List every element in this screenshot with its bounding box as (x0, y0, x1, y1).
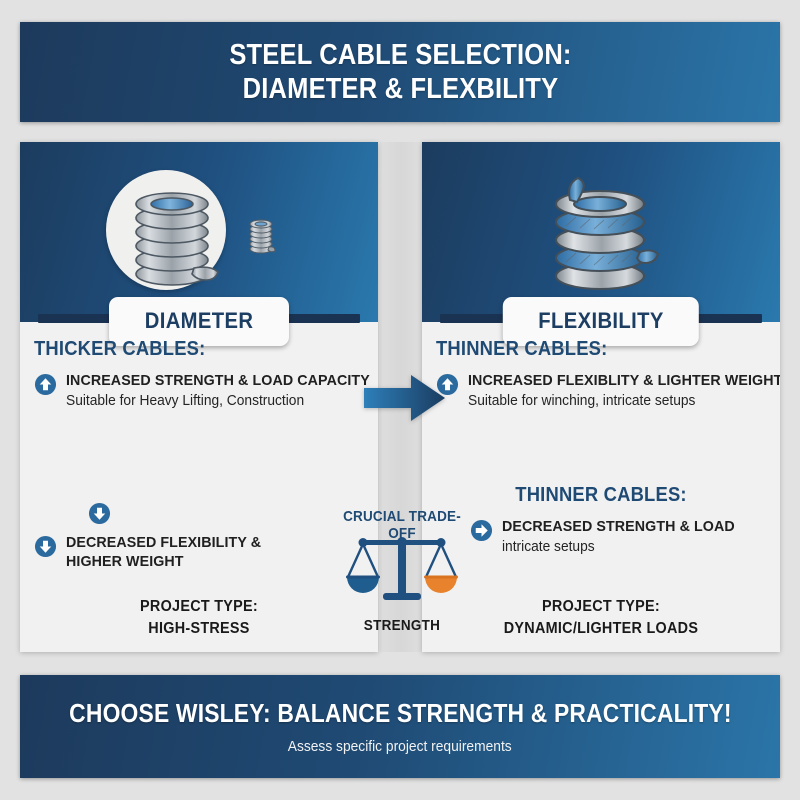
balance-scale-icon (345, 533, 459, 613)
strength-label: STRENGTH (334, 617, 471, 634)
arrow-right-icon (364, 373, 446, 423)
flexibility-bottom-sub: intricate setups (502, 538, 753, 557)
thin-wire-rope-coil-icon (544, 170, 660, 298)
flexibility-project-label: PROJECT TYPE: (440, 596, 762, 618)
panel-flexibility-icon-area (422, 164, 780, 304)
flexibility-top-heading: THINNER CABLES: (436, 338, 740, 361)
flexibility-project-value: DYNAMIC/LIGHTER LOADS (440, 618, 762, 640)
small-cable-coil-icon (248, 216, 276, 256)
header-banner: STEEL CABLE SELECTION: DIAMETER & FLEXBI… (20, 22, 780, 122)
header-title-line2: DIAMETER & FLEXBILITY (229, 72, 571, 106)
flexibility-bottom-body: THINNER CABLES: DECREASED STRENGTH & LOA… (422, 484, 780, 557)
header-title: STEEL CABLE SELECTION: DIAMETER & FLEXBI… (229, 38, 571, 106)
diameter-project-label: PROJECT TYPE: (38, 596, 360, 618)
panel-diameter: DIAMETER THICKER CABLES: INCREASED STREN… (20, 142, 378, 652)
flexibility-project-block: PROJECT TYPE: DYNAMIC/LIGHTER LOADS (422, 596, 780, 639)
panel-flexibility-body: THINNER CABLES: INCREASED FLEXIBLITY & L… (422, 338, 780, 411)
footer-banner: CHOOSE WISLEY: BALANCE STRENGTH & PRACTI… (20, 675, 780, 778)
diameter-top-heading: THICKER CABLES: (34, 338, 338, 361)
diameter-project-value: HIGH-STRESS (38, 618, 360, 640)
thick-cable-coil-icon (128, 180, 224, 292)
diameter-top-bullet: INCREASED STRENGTH & LOAD CAPACITY Suita… (34, 372, 364, 411)
diameter-bottom-sub: HIGHER WEIGHT (66, 553, 349, 572)
header-title-line1: STEEL CABLE SELECTION: (229, 38, 571, 72)
footer-subtitle: Assess specific project requirements (288, 738, 512, 755)
diameter-bottom-bullet: DECREASED FLEXIBILITY & HIGHER WEIGHT (34, 534, 364, 572)
panel-diameter-icon-area (20, 164, 378, 304)
arrow-right-circle-icon (470, 519, 493, 542)
diameter-top-main: INCREASED STRENGTH & LOAD CAPACITY (66, 372, 349, 391)
diameter-bottom-main: DECREASED FLEXIBILITY & (66, 534, 349, 553)
flexibility-top-main: INCREASED FLEXIBLITY & LIGHTER WEIGHT (468, 372, 751, 391)
flexibility-bottom-main: DECREASED STRENGTH & LOAD (502, 518, 753, 537)
diameter-project-block: PROJECT TYPE: HIGH-STRESS (20, 596, 378, 639)
arrow-down-circle-icon-floating (88, 502, 111, 525)
panel-flexibility: FLEXIBILITY THINNER CABLES: INCREASED FL… (422, 142, 780, 652)
arrow-up-circle-icon (34, 373, 57, 396)
flexibility-bottom-heading: THINNER CABLES: (449, 484, 753, 507)
infographic-canvas: STEEL CABLE SELECTION: DIAMETER & FLEXBI… (0, 0, 800, 800)
arrow-down-circle-icon (34, 535, 57, 558)
diameter-bottom-body: DECREASED FLEXIBILITY & HIGHER WEIGHT (20, 534, 378, 572)
panel-diameter-body: THICKER CABLES: INCREASED STRENGTH & LOA… (20, 338, 378, 411)
panel-diameter-pill-label: DIAMETER (145, 308, 254, 334)
flexibility-top-sub: Suitable for winching, intricate setups (468, 392, 751, 411)
diameter-top-sub: Suitable for Heavy Lifting, Construction (66, 392, 349, 411)
panel-flexibility-pill-label: FLEXIBILITY (538, 308, 663, 334)
flexibility-top-bullet: INCREASED FLEXIBLITY & LIGHTER WEIGHT Su… (436, 372, 766, 411)
flexibility-bottom-bullet: DECREASED STRENGTH & LOAD intricate setu… (436, 518, 766, 557)
footer-title: CHOOSE WISLEY: BALANCE STRENGTH & PRACTI… (69, 698, 731, 729)
